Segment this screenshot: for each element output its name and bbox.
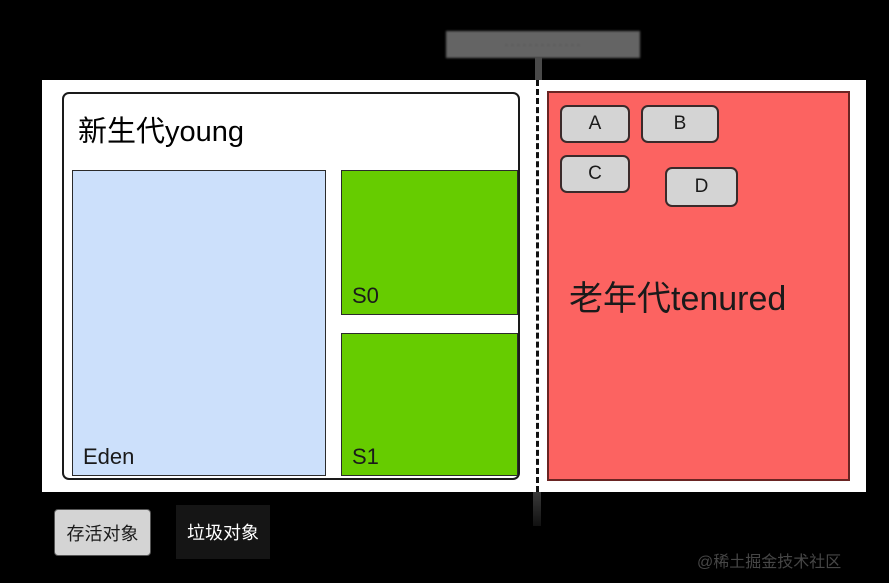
top-label: ············· xyxy=(446,31,640,58)
region-s0[interactable]: S0 xyxy=(341,170,518,315)
region-label-s1: S1 xyxy=(352,444,379,470)
region-label-eden: Eden xyxy=(83,444,134,470)
young-generation-title: 新生代young xyxy=(78,108,244,150)
region-eden[interactable]: Eden xyxy=(72,170,326,476)
connector-line-bottom xyxy=(533,492,541,526)
object-box-a[interactable]: A xyxy=(560,105,630,143)
old-generation-title: 老年代tenured xyxy=(569,271,786,320)
young-generation-panel[interactable]: 新生代young Eden S0 S1 xyxy=(62,92,520,480)
object-box-b[interactable]: B xyxy=(641,105,719,143)
old-generation-panel[interactable]: A B C D 老年代tenured xyxy=(547,91,850,481)
generation-divider xyxy=(536,80,539,492)
object-box-c[interactable]: C xyxy=(560,155,630,193)
legend-alive-object: 存活对象 xyxy=(54,509,151,556)
watermark: @稀土掘金技术社区 xyxy=(697,548,841,572)
region-s1[interactable]: S1 xyxy=(341,333,518,476)
heap-container: 新生代young Eden S0 S1 A B C D 老年代tenured xyxy=(42,80,866,492)
legend-garbage-object: 垃圾对象 xyxy=(176,505,270,559)
object-box-d[interactable]: D xyxy=(665,167,738,207)
region-label-s0: S0 xyxy=(352,283,379,309)
